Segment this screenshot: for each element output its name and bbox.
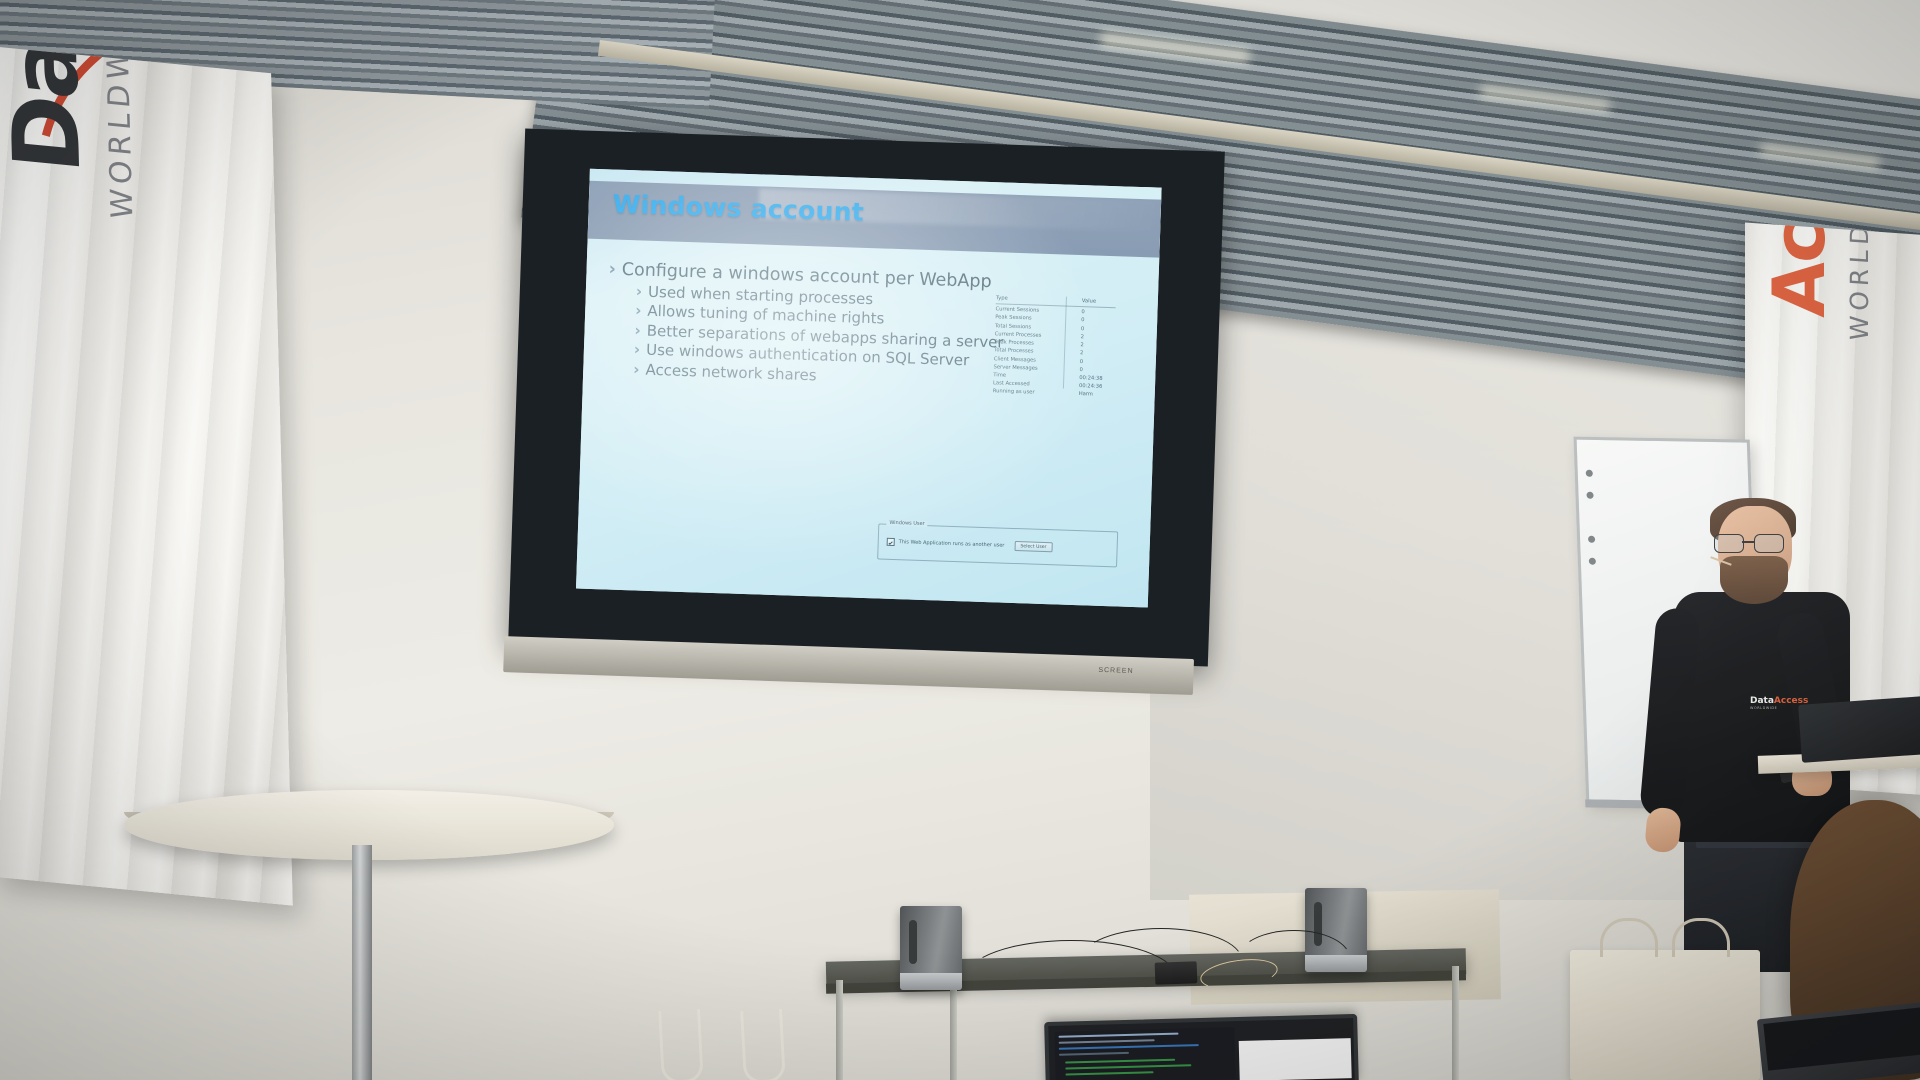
- laptop-document-pane: [1239, 1038, 1352, 1080]
- wireless-mic-transmitter: [1155, 961, 1198, 984]
- speaker-right: [1305, 888, 1367, 972]
- stats-value: Harm: [1079, 390, 1113, 399]
- run-as-another-user-checkbox[interactable]: [887, 538, 895, 546]
- banner-left-brand: DataAccess: [0, 44, 101, 177]
- av-table-leg: [1452, 966, 1459, 1080]
- av-table-leg: [836, 980, 843, 1080]
- banner-left-brand-first: Data: [0, 44, 101, 177]
- speaker-port: [909, 920, 917, 964]
- round-table-pole: [352, 845, 372, 1080]
- chevron-right-icon: ›: [636, 282, 643, 302]
- windows-user-row: This Web Application runs as another use…: [887, 537, 1053, 552]
- banner-right-tagline: WORLDWIDE: [1845, 222, 1874, 341]
- eyeglass-lens-left: [1714, 534, 1744, 553]
- run-as-another-user-label: This Web Application runs as another use…: [899, 539, 1005, 549]
- windows-user-groupbox: Windows User This Web Application runs a…: [877, 523, 1118, 567]
- windows-user-legend: Windows User: [886, 520, 927, 527]
- presentation-room-photo: DataAccess WORLDWIDE Access WORLDWIDE Wi…: [0, 0, 1920, 1080]
- paper-bag: [1570, 950, 1760, 1080]
- av-table-leg: [950, 978, 957, 1080]
- stats-type: Running as user: [993, 388, 1079, 399]
- select-user-button[interactable]: Select User: [1014, 541, 1052, 552]
- speaker-base: [900, 973, 962, 990]
- side-table-laptop[interactable]: [1798, 695, 1920, 763]
- chair: [740, 1009, 786, 1080]
- roll-up-banner-left: DataAccess WORLDWIDE: [0, 44, 293, 905]
- whiteboard-magnet: [1589, 558, 1596, 565]
- audience-laptop-screen: [1763, 1006, 1920, 1070]
- chevron-right-icon: ›: [633, 360, 640, 380]
- chevron-right-icon: ›: [635, 302, 642, 322]
- presenter-laptop[interactable]: [1044, 1014, 1359, 1080]
- banner-left-tagline: WORLDWIDE: [99, 44, 140, 220]
- slide-bullet-list: › Configure a windows account per WebApp…: [605, 259, 1009, 392]
- projection-screen: Windows account › Configure a windows ac…: [507, 129, 1225, 697]
- banner-right-brand: Access: [1757, 222, 1841, 319]
- eyeglass-lens-right: [1754, 534, 1784, 553]
- chair: [658, 1009, 704, 1080]
- chevron-right-icon: ›: [608, 259, 616, 281]
- speaker-left: [900, 906, 962, 990]
- whiteboard-magnet: [1586, 492, 1593, 499]
- eyeglass-bridge: [1742, 541, 1754, 543]
- eyeglasses-icon: [1714, 534, 1786, 551]
- stats-header-type: Type: [996, 294, 1082, 305]
- slide: Windows account › Configure a windows ac…: [576, 169, 1162, 608]
- whiteboard-magnet: [1586, 470, 1593, 477]
- shirt-logo-first: Data: [1750, 696, 1774, 706]
- presenter-hand-left: [1644, 807, 1682, 854]
- slide-stats-table: Type Value Current Sessions0 Peak Sessio…: [993, 294, 1116, 400]
- stats-header-value: Value: [1082, 297, 1116, 306]
- laptop-ide-pane: [1054, 1027, 1235, 1080]
- screen-brand-label: SCREEN: [1098, 667, 1133, 675]
- chevron-right-icon: ›: [634, 321, 641, 341]
- chevron-right-icon: ›: [634, 341, 641, 361]
- bag-handle: [1672, 918, 1730, 957]
- whiteboard-magnet: [1588, 536, 1595, 543]
- bag-handle: [1600, 918, 1658, 957]
